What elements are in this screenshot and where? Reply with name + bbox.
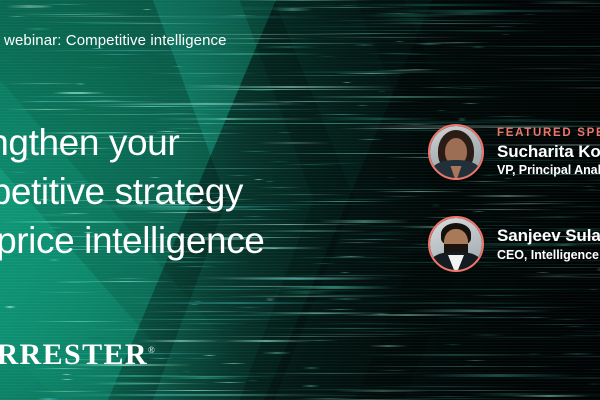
avatar xyxy=(428,124,484,180)
headline-line-1: Strengthen your xyxy=(0,118,442,167)
speaker-title: CEO, Intelligence Node xyxy=(497,248,600,262)
forrester-logo: FORRESTER® xyxy=(0,338,155,372)
speaker-card: FEATURED SPEAKERS Sucharita Kodali VP, P… xyxy=(428,124,600,180)
speaker-card: Sanjeev Sularia CEO, Intelligence Node xyxy=(428,216,600,272)
headline-line-2: competitive strategy xyxy=(0,167,442,216)
registered-trademark-icon: ® xyxy=(148,345,155,355)
speaker-name: Sucharita Kodali xyxy=(497,142,600,162)
banner-content: Forrester webinar: Competitive intellige… xyxy=(0,0,600,400)
speaker-title: VP, Principal Analyst xyxy=(497,163,600,177)
speaker-name: Sanjeev Sularia xyxy=(497,226,600,246)
headline-line-3: with price intelligence xyxy=(0,216,442,265)
featured-speakers-label: FEATURED SPEAKERS xyxy=(497,127,600,139)
page-title: Strengthen your competitive strategy wit… xyxy=(0,118,442,265)
avatar xyxy=(428,216,484,272)
logo-wordmark: FORRESTER xyxy=(0,338,148,371)
webinar-promo-banner: Forrester webinar: Competitive intellige… xyxy=(0,0,600,400)
eyebrow-text: Forrester webinar: Competitive intellige… xyxy=(0,32,227,49)
featured-speakers-block: FEATURED SPEAKERS Sucharita Kodali VP, P… xyxy=(428,124,600,308)
